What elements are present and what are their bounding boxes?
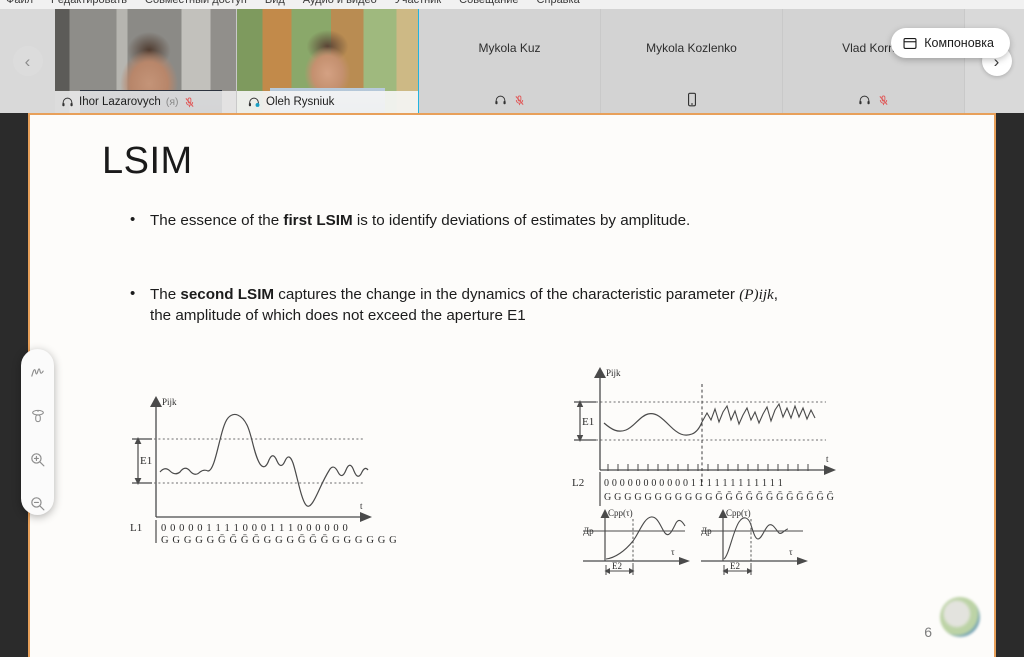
bullet-text-part: first LSIM <box>283 212 352 229</box>
annotation-toolbar <box>21 349 54 515</box>
participant-namebar: Oleh Rysniuk <box>237 91 418 113</box>
bullet-text-part: (P)ijk <box>739 286 774 303</box>
binary-sequence: 0 0 0 0 0 0 0 0 0 0 0 1 1 1 1 1 1 1 1 1 … <box>604 478 783 489</box>
headset-active-icon <box>247 96 261 109</box>
participant-status-icons <box>601 92 782 107</box>
mic-muted-icon <box>514 94 525 107</box>
zoom-in-tool[interactable] <box>26 448 50 472</box>
mic-muted-icon <box>184 96 195 109</box>
participant-tile-vlad-korn[interactable]: Vlad Korn... <box>783 9 965 113</box>
annotate-pen-icon <box>29 364 46 381</box>
layout-grid-icon <box>903 37 917 50</box>
figure-cpp-right: Cpp(τ) τ Др E2 <box>693 503 818 583</box>
aperture-label: E1 <box>140 455 152 467</box>
aperture-label: E1 <box>582 416 594 428</box>
bullet-text-part: second LSIM <box>180 286 274 303</box>
presentation-slide[interactable]: LSIM The essence of the first LSIM is to… <box>30 115 994 657</box>
menu-item-edit[interactable]: Редактировать <box>51 0 127 6</box>
participant-name: Oleh Rysniuk <box>266 96 334 108</box>
headset-icon <box>494 94 507 107</box>
headset-icon <box>858 94 871 107</box>
participant-status-icons <box>419 94 600 107</box>
axis-label-x: τ <box>671 547 675 557</box>
bullet-item: The second LSIM captures the change in t… <box>128 284 788 327</box>
mobile-icon <box>687 92 697 107</box>
page-title: LSIM <box>102 140 193 183</box>
binary-sequence: 0 0 0 0 0 1 1 1 1 0 0 0 1 1 1 0 0 0 0 0 … <box>161 523 348 534</box>
threshold-label: Др <box>701 526 712 536</box>
participant-name: Mykola Kuz <box>478 41 540 55</box>
floating-video-bubble[interactable] <box>940 597 980 637</box>
filmstrip-prev-button[interactable]: ‹ <box>13 46 43 76</box>
bullet-text-part: is to identify deviations of estimates b… <box>353 212 691 229</box>
figure-cpp-left: Cpp(τ) τ Др E2 <box>575 503 700 583</box>
chevron-left-icon: ‹ <box>25 53 31 70</box>
axis-label-x: t <box>826 454 829 464</box>
axis-label-y: Pijk <box>162 397 177 407</box>
annotate-tool[interactable] <box>26 361 50 385</box>
axis-label-x: τ <box>789 547 793 557</box>
zoom-out-tool[interactable] <box>26 492 50 516</box>
menu-item-audiovideo[interactable]: Аудио и видео <box>303 0 377 6</box>
filmstrip-next-area: › <box>969 9 1024 113</box>
menu-item-view[interactable]: Вид <box>265 0 285 6</box>
level-label: L1 <box>130 522 142 534</box>
participant-tile-ihor-lazarovych[interactable]: Ihor Lazarovych (я) <box>55 9 237 113</box>
menu-item-participant[interactable]: Участник <box>395 0 441 6</box>
axis-label-y: Pijk <box>606 368 621 378</box>
self-tag: (я) <box>166 96 179 108</box>
bullet-text-part: captures the change in the dynamics of t… <box>274 286 739 303</box>
axis-label-x: t <box>360 501 363 511</box>
layout-button-label: Компоновка <box>924 36 994 50</box>
zoom-out-icon <box>29 495 46 512</box>
interval-label: E2 <box>612 561 622 571</box>
participant-status-icons <box>783 94 964 107</box>
slide-page-number: 6 <box>924 624 932 640</box>
symbol-sequence: G G G G G Ḡ Ḡ Ḡ Ḡ G G G Ḡ Ḡ Ḡ G G G G G … <box>161 534 396 546</box>
slide-body: The essence of the first LSIM is to iden… <box>128 210 788 379</box>
bullet-item: The essence of the first LSIM is to iden… <box>128 210 788 232</box>
participant-tiles: Ihor Lazarovych (я) <box>55 9 969 113</box>
filmstrip-prev-area: ‹ <box>0 9 55 113</box>
participant-tile-oleh-rysniuk[interactable]: Oleh Rysniuk <box>237 9 419 113</box>
spotlight-tool[interactable] <box>26 405 50 429</box>
layout-button[interactable]: Компоновка <box>891 28 1010 58</box>
participant-filmstrip: ‹ Ihor Lazarovych (я) <box>0 9 1024 113</box>
threshold-label: Др <box>583 526 594 536</box>
axis-label-y: Cpp(τ) <box>726 508 751 518</box>
screen-share-region: LSIM The essence of the first LSIM is to… <box>0 113 1024 657</box>
bullet-text-part: The essence of the <box>150 212 283 229</box>
axis-label-y: Cpp(τ) <box>608 508 633 518</box>
menu-item-help[interactable]: Справка <box>537 0 580 6</box>
menu-item-file[interactable]: Файл <box>6 0 33 6</box>
mic-muted-icon <box>878 94 889 107</box>
participant-name: Ihor Lazarovych <box>79 96 161 108</box>
symbol-sequence: G G G G G G G G G G G Ḡ Ḡ Ḡ Ḡ Ḡ Ḡ Ḡ Ḡ Ḡ … <box>604 491 834 503</box>
figure-second-lsim: Pijk t E1 <box>560 360 850 510</box>
participant-tile-mykola-kuz[interactable]: Mykola Kuz <box>419 9 601 113</box>
spotlight-icon <box>30 407 46 425</box>
participant-namebar: Ihor Lazarovych (я) <box>55 91 236 113</box>
bullet-text-part: The <box>150 286 180 303</box>
shared-content-frame: LSIM The essence of the first LSIM is to… <box>28 113 996 657</box>
participant-tile-mykola-kozlenko[interactable]: Mykola Kozlenko <box>601 9 783 113</box>
headset-icon <box>61 96 74 109</box>
interval-label: E2 <box>730 561 740 571</box>
menu-item-meeting[interactable]: Совещание <box>459 0 518 6</box>
participant-name: Mykola Kozlenko <box>646 41 737 55</box>
app-menu-bar: Файл Редактировать Совместный доступ Вид… <box>0 0 1024 9</box>
figure-first-lsim: Pijk t E1 L1 0 0 0 0 0 1 1 1 1 0 0 0 <box>116 387 396 547</box>
zoom-in-icon <box>29 451 46 468</box>
menu-item-share[interactable]: Совместный доступ <box>145 0 247 6</box>
level-label: L2 <box>572 477 584 489</box>
